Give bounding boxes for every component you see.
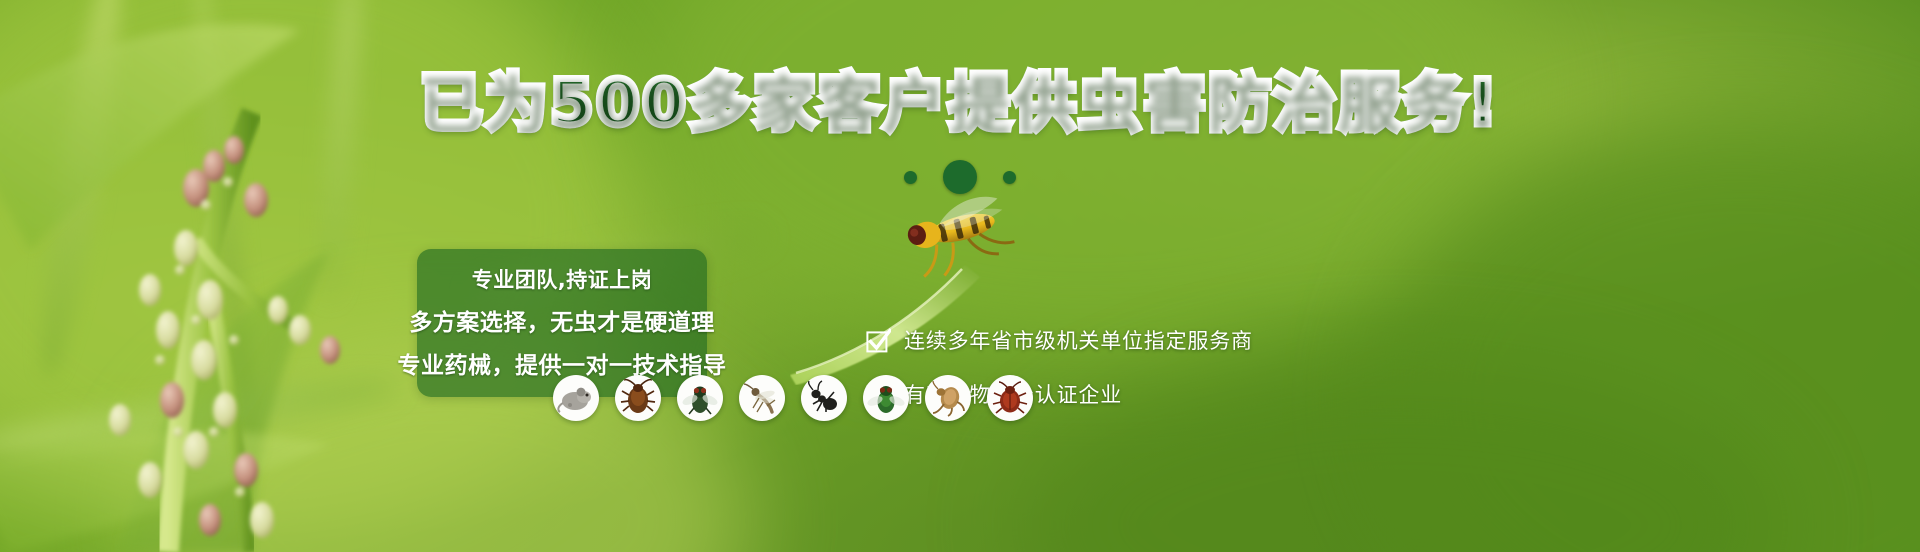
pest-icon-cockroach <box>615 375 661 421</box>
credential-item: 连续多年省市级机关单位指定服务商 <box>866 325 1253 355</box>
decorative-dots <box>0 160 1920 194</box>
pest-icon-row <box>553 375 1033 421</box>
dot-small-icon <box>1003 171 1016 184</box>
pest-icon-ant <box>801 375 847 421</box>
checkbox-checked-icon <box>866 328 891 353</box>
dot-small-icon <box>904 171 917 184</box>
credential-label: 连续多年省市级机关单位指定服务商 <box>904 325 1253 355</box>
banner-headline: 已为500多家客户提供虫害防治服务! <box>0 70 1920 135</box>
selling-point-line-2: 多方案选择，无虫才是硬道理 <box>409 303 715 337</box>
pest-icon-mouse <box>553 375 599 421</box>
dot-large-icon <box>943 160 977 194</box>
banner-headline-text: 已为500多家客户提供虫害防治服务! <box>420 66 1500 139</box>
pest-icon-mosquito <box>739 375 785 421</box>
pest-icon-flea <box>925 375 971 421</box>
promo-banner: 已为500多家客户提供虫害防治服务! 专业团队,持证上岗 多方案选择，无虫才是硬… <box>0 0 1920 552</box>
selling-point-line-1: 专业团队,持证上岗 <box>472 264 652 294</box>
pest-icon-green-fly <box>863 375 909 421</box>
pest-icon-bedbug <box>987 375 1033 421</box>
pest-icon-fly <box>677 375 723 421</box>
